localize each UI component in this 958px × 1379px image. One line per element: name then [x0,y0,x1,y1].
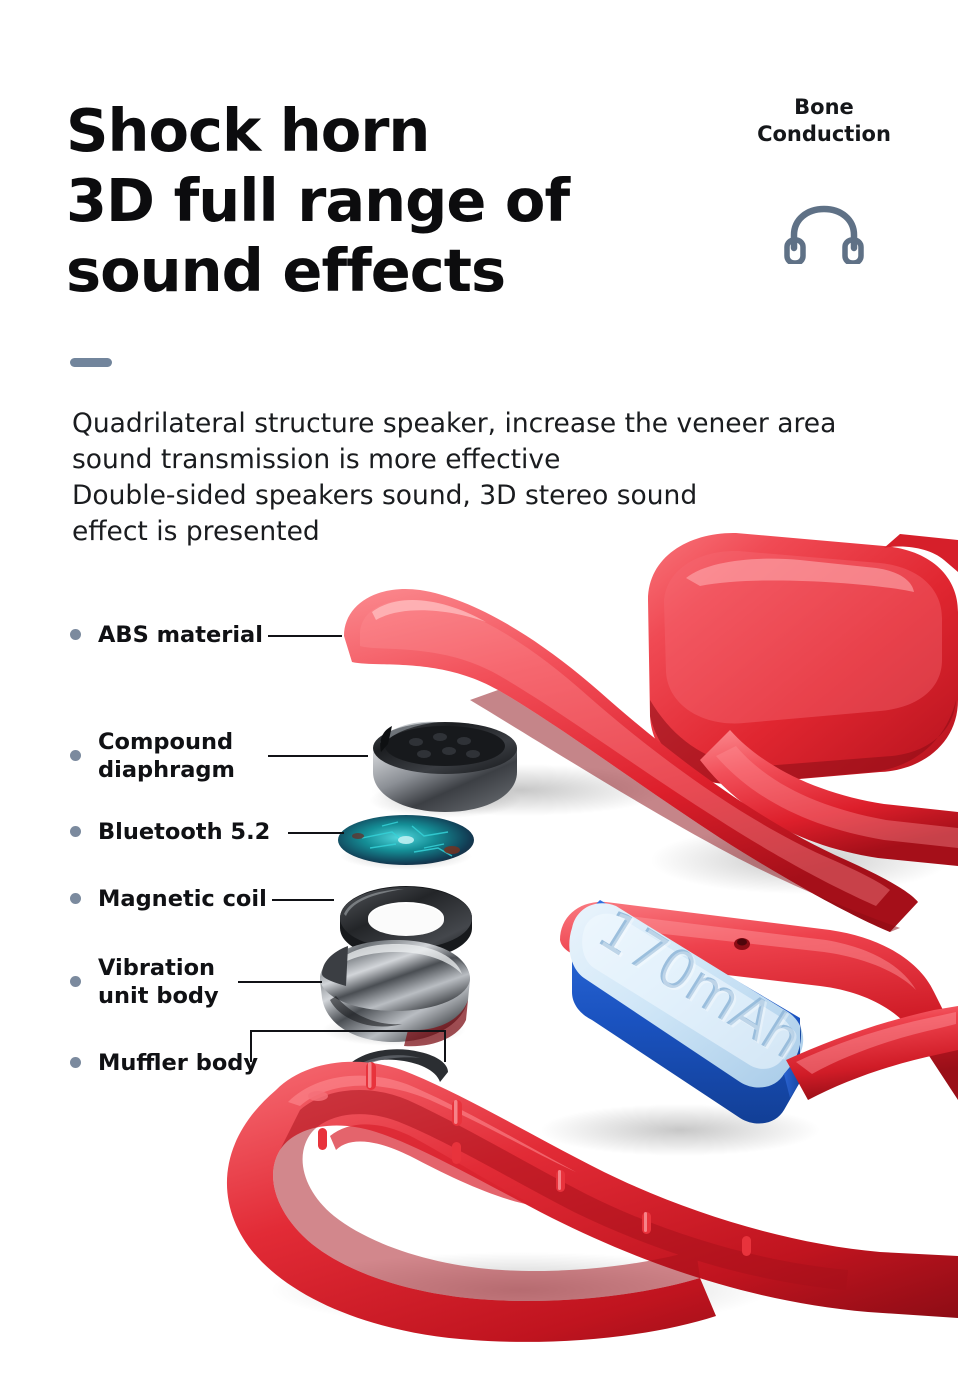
callout-label-muffler-body: Muffler body [98,1049,258,1077]
callout-label-compound-diaphragm: Compound diaphragm [98,728,235,784]
leader-bracket-muffler-body [250,1030,446,1062]
bullet-dot-icon [70,1057,81,1068]
callout-list: ABS material Compound diaphragm Bluetoot… [0,0,958,1379]
callout-label-magnetic-coil: Magnetic coil [98,885,267,913]
bullet-dot-icon [70,629,81,640]
leader-line-compound-diaphragm [268,755,368,757]
leader-line-abs-material [268,635,342,637]
leader-line-vibration-unit [238,981,322,983]
bullet-dot-icon [70,826,81,837]
bullet-dot-icon [70,893,81,904]
leader-line-magnetic-coil [272,899,334,901]
bullet-dot-icon [70,976,81,987]
callout-label-abs-material: ABS material [98,621,263,649]
callout-label-bluetooth: Bluetooth 5.2 [98,818,270,846]
bullet-dot-icon [70,750,81,761]
infographic-page: 170mAh 170mAh Shock horn 3D full range o… [0,0,958,1379]
callout-label-vibration-unit-body: Vibration unit body [98,954,219,1010]
leader-line-bluetooth [288,832,344,834]
